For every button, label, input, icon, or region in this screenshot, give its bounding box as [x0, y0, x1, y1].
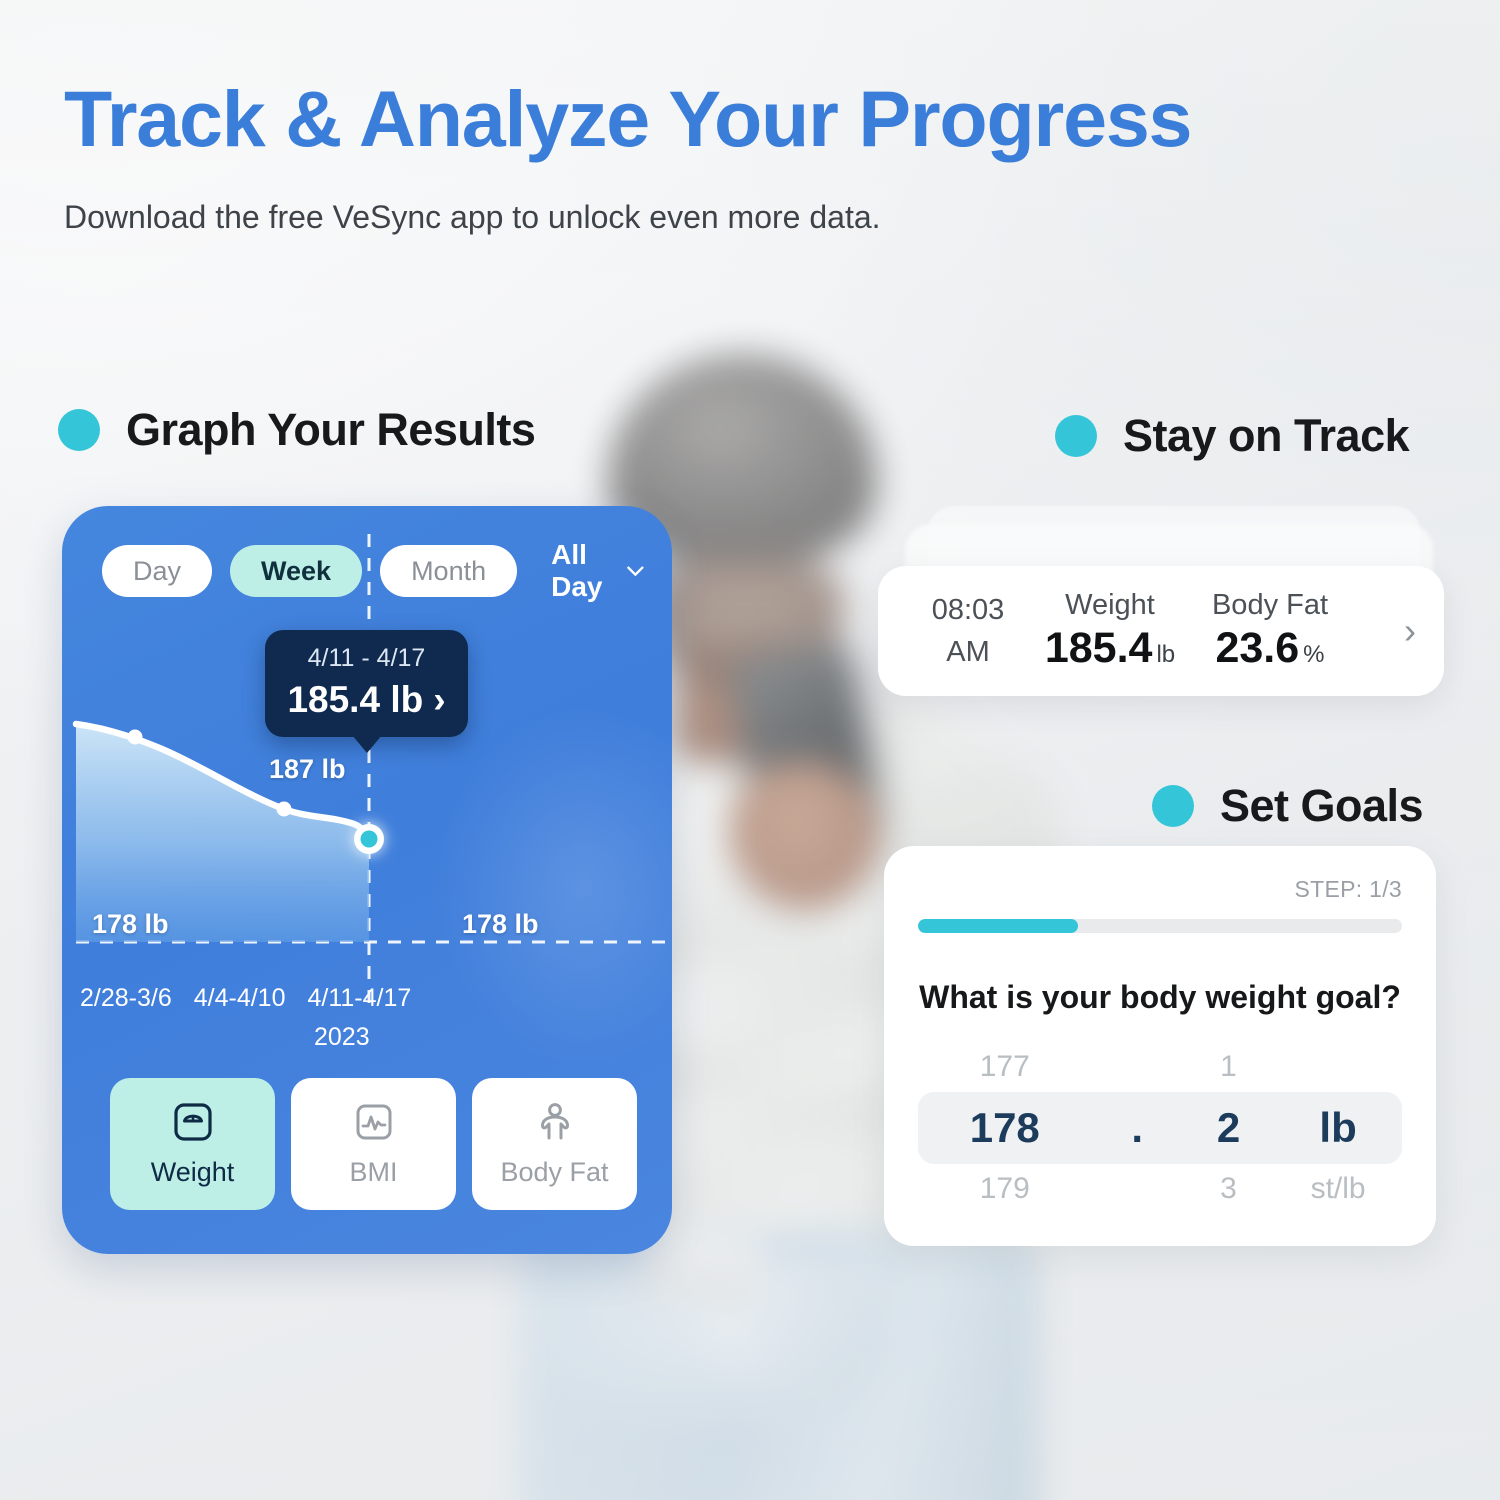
- metric-tab-label: Body Fat: [500, 1157, 608, 1188]
- picker-integer-below: 179: [918, 1172, 1092, 1206]
- bullet-dot-icon: [1152, 785, 1194, 827]
- bullet-dot-icon: [58, 409, 100, 451]
- section-title-graph: Graph Your Results: [126, 404, 535, 456]
- section-title-goals: Set Goals: [1220, 780, 1423, 832]
- track-metric-value: 185.4: [1045, 624, 1153, 673]
- track-metric-value-row: 185.4 lb: [1030, 624, 1190, 673]
- body-figure-icon: [533, 1100, 577, 1144]
- weight-goal-picker[interactable]: 177 1 178 . 2 lb 179 3 st/lb: [918, 1050, 1402, 1206]
- annotation-peak-value: 187 lb: [269, 754, 346, 785]
- header: Track & Analyze Your Progress Download t…: [64, 78, 1404, 236]
- section-title-track: Stay on Track: [1123, 410, 1409, 462]
- picker-row-selected[interactable]: 178 . 2 lb: [918, 1092, 1402, 1164]
- track-metric-value-row: 23.6 %: [1190, 624, 1350, 673]
- metric-tab-label: BMI: [349, 1157, 397, 1188]
- tooltip-value-row: 185.4 lb ›: [275, 679, 458, 721]
- graph-card: Day Week Month All Day: [62, 506, 672, 1254]
- metric-tab-weight[interactable]: Weight: [110, 1078, 275, 1210]
- x-axis-tick-label: 4/11-4/17: [308, 984, 412, 1013]
- track-time: 08:03: [906, 589, 1030, 631]
- track-metric-weight: Weight 185.4 lb: [1030, 589, 1190, 673]
- tooltip-value: 185.4 lb: [287, 679, 423, 721]
- x-axis-tick-label: 4/4-4/10: [194, 984, 286, 1013]
- chart-activity-icon: [352, 1100, 396, 1144]
- picker-separator-selected: .: [1092, 1104, 1183, 1152]
- picker-unit-below: st/lb: [1274, 1172, 1402, 1206]
- chevron-right-icon[interactable]: ›: [1404, 610, 1416, 652]
- track-metric-name: Body Fat: [1190, 589, 1350, 622]
- track-meridiem: AM: [906, 631, 1030, 673]
- x-axis-tick-label: 2/28-3/6: [80, 984, 172, 1013]
- picker-decimal-below: 3: [1183, 1172, 1274, 1206]
- weight-area-chart: [62, 506, 672, 1066]
- data-point-marker[interactable]: [128, 730, 143, 745]
- metric-tab-body-fat[interactable]: Body Fat: [472, 1078, 637, 1210]
- data-point-marker[interactable]: [277, 802, 292, 817]
- page-title: Track & Analyze Your Progress: [64, 78, 1404, 161]
- page-subtitle: Download the free VeSync app to unlock e…: [64, 199, 1404, 236]
- scale-icon: [171, 1100, 215, 1144]
- metric-tab-bmi[interactable]: BMI: [291, 1078, 456, 1210]
- tooltip-tail: [352, 735, 382, 753]
- bullet-dot-icon: [1055, 415, 1097, 457]
- track-record-card[interactable]: 08:03 AM Weight 185.4 lb Body Fat 23.6 %…: [878, 566, 1444, 696]
- track-metric-value: 23.6: [1215, 624, 1299, 673]
- track-metric-unit: %: [1303, 641, 1324, 669]
- track-metric-unit: lb: [1156, 641, 1175, 669]
- step-indicator: STEP: 1/3: [918, 876, 1402, 903]
- tooltip-date-range: 4/11 - 4/17: [275, 644, 458, 673]
- x-axis-year-label: 2023: [62, 1023, 672, 1052]
- picker-integer-selected: 178: [918, 1104, 1092, 1152]
- track-metric-body-fat: Body Fat 23.6 %: [1190, 589, 1350, 673]
- metric-tab-label: Weight: [151, 1157, 235, 1188]
- section-heading-goals: Set Goals: [1152, 780, 1423, 832]
- metric-tabs: Weight BMI Body Fat: [110, 1078, 637, 1210]
- picker-decimal-selected: 2: [1183, 1104, 1274, 1152]
- track-timestamp: 08:03 AM: [906, 589, 1030, 673]
- x-axis: 2/28-3/6 4/4-4/10 4/11-4/17 2023: [62, 984, 672, 1052]
- chevron-right-icon: ›: [433, 679, 445, 721]
- picker-row-above[interactable]: 177 1: [918, 1050, 1402, 1084]
- picker-unit-selected: lb: [1274, 1104, 1402, 1152]
- progress-bar-track: [918, 919, 1402, 933]
- annotation-baseline-right: 178 lb: [462, 909, 539, 940]
- selected-data-point-marker[interactable]: [354, 824, 384, 854]
- picker-row-below[interactable]: 179 3 st/lb: [918, 1172, 1402, 1206]
- picker-decimal-above: 1: [1183, 1050, 1274, 1084]
- track-metric-name: Weight: [1030, 589, 1190, 622]
- picker-integer-above: 177: [918, 1050, 1092, 1084]
- section-heading-graph: Graph Your Results: [58, 404, 535, 456]
- progress-bar-fill: [918, 919, 1078, 933]
- annotation-baseline-left: 178 lb: [92, 909, 169, 940]
- chart-tooltip[interactable]: 4/11 - 4/17 185.4 lb ›: [265, 630, 468, 737]
- goal-question-text: What is your body weight goal?: [918, 979, 1402, 1016]
- set-goals-card: STEP: 1/3 What is your body weight goal?…: [884, 846, 1436, 1246]
- section-heading-track: Stay on Track: [1055, 410, 1409, 462]
